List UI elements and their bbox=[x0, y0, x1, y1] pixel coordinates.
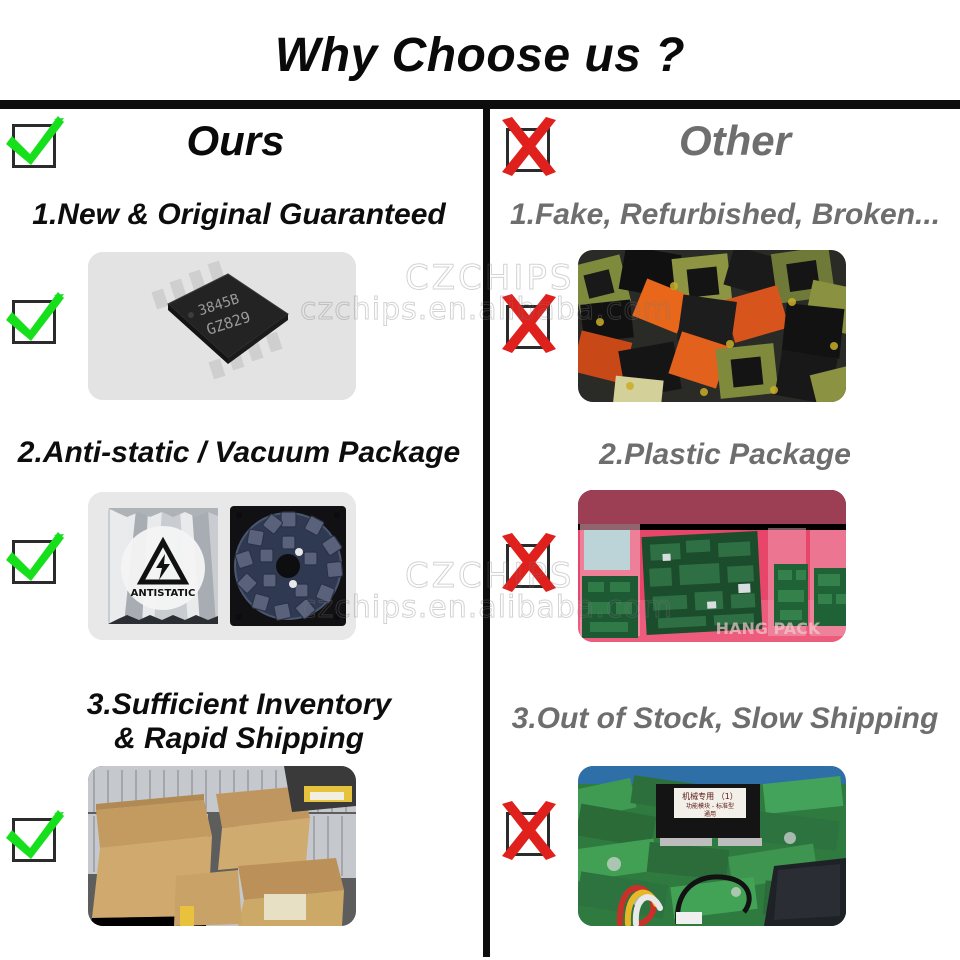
column-header-other: Other bbox=[490, 113, 960, 171]
cross-icon bbox=[498, 116, 560, 178]
other-photo-3: 机械专用 （1） 功能模块 - 标准型 通用 bbox=[578, 766, 846, 926]
column-header-ours: Ours bbox=[0, 113, 483, 171]
why-choose-us-infographic: Why Choose us ? Ours Other bbox=[0, 0, 960, 960]
column-label-ours: Ours bbox=[0, 115, 477, 167]
cross-icon bbox=[498, 293, 560, 355]
scrap-chips-illustration bbox=[578, 250, 846, 402]
vertical-divider bbox=[483, 109, 490, 957]
svg-text:通用: 通用 bbox=[704, 810, 716, 818]
inventory-boxes-illustration bbox=[88, 766, 356, 926]
ours-photo-2: ANTISTATIC bbox=[88, 492, 356, 640]
ic-chip-illustration: 3845B GZ829 bbox=[88, 252, 356, 400]
ours-caption-2: 2.Anti-static / Vacuum Package bbox=[0, 436, 478, 470]
other-caption-1: 1.Fake, Refurbished, Broken... bbox=[490, 198, 960, 232]
svg-text:HANG PACK: HANG PACK bbox=[716, 619, 821, 638]
svg-text:功能模块 - 标准型: 功能模块 - 标准型 bbox=[686, 802, 734, 810]
antistatic-package-illustration: ANTISTATIC bbox=[88, 492, 356, 640]
plastic-package-illustration: HANG PACK bbox=[578, 490, 846, 642]
scrap-boards-illustration: 机械专用 （1） 功能模块 - 标准型 通用 bbox=[578, 766, 846, 926]
page-title: Why Choose us ? bbox=[0, 28, 960, 84]
cross-icon bbox=[498, 532, 560, 594]
green-check-glyph bbox=[4, 112, 66, 174]
ours-photo-3 bbox=[88, 766, 356, 926]
ours-caption-3: 3.Sufficient Inventory & Rapid Shipping bbox=[0, 688, 478, 756]
other-caption-3: 3.Out of Stock, Slow Shipping bbox=[490, 702, 960, 736]
check-icon bbox=[4, 112, 66, 174]
check-icon bbox=[4, 806, 66, 868]
other-photo-1 bbox=[578, 250, 846, 402]
red-cross-glyph bbox=[498, 800, 560, 862]
ours-photo-1: 3845B GZ829 bbox=[88, 252, 356, 400]
other-caption-2: 2.Plastic Package bbox=[490, 438, 960, 472]
cross-icon bbox=[498, 800, 560, 862]
green-check-glyph bbox=[4, 528, 66, 590]
ours-caption-1: 1.New & Original Guaranteed bbox=[0, 198, 478, 232]
horizontal-divider bbox=[0, 100, 960, 109]
green-check-glyph bbox=[4, 288, 66, 350]
column-label-other: Other bbox=[500, 115, 960, 167]
svg-text:机械专用 （1）: 机械专用 （1） bbox=[682, 791, 738, 801]
other-photo-2: HANG PACK bbox=[578, 490, 846, 642]
red-cross-glyph bbox=[498, 532, 560, 594]
red-cross-glyph bbox=[498, 116, 560, 178]
check-icon bbox=[4, 528, 66, 590]
green-check-glyph bbox=[4, 806, 66, 868]
red-cross-glyph bbox=[498, 293, 560, 355]
check-icon bbox=[4, 288, 66, 350]
svg-text:ANTISTATIC: ANTISTATIC bbox=[131, 588, 196, 599]
